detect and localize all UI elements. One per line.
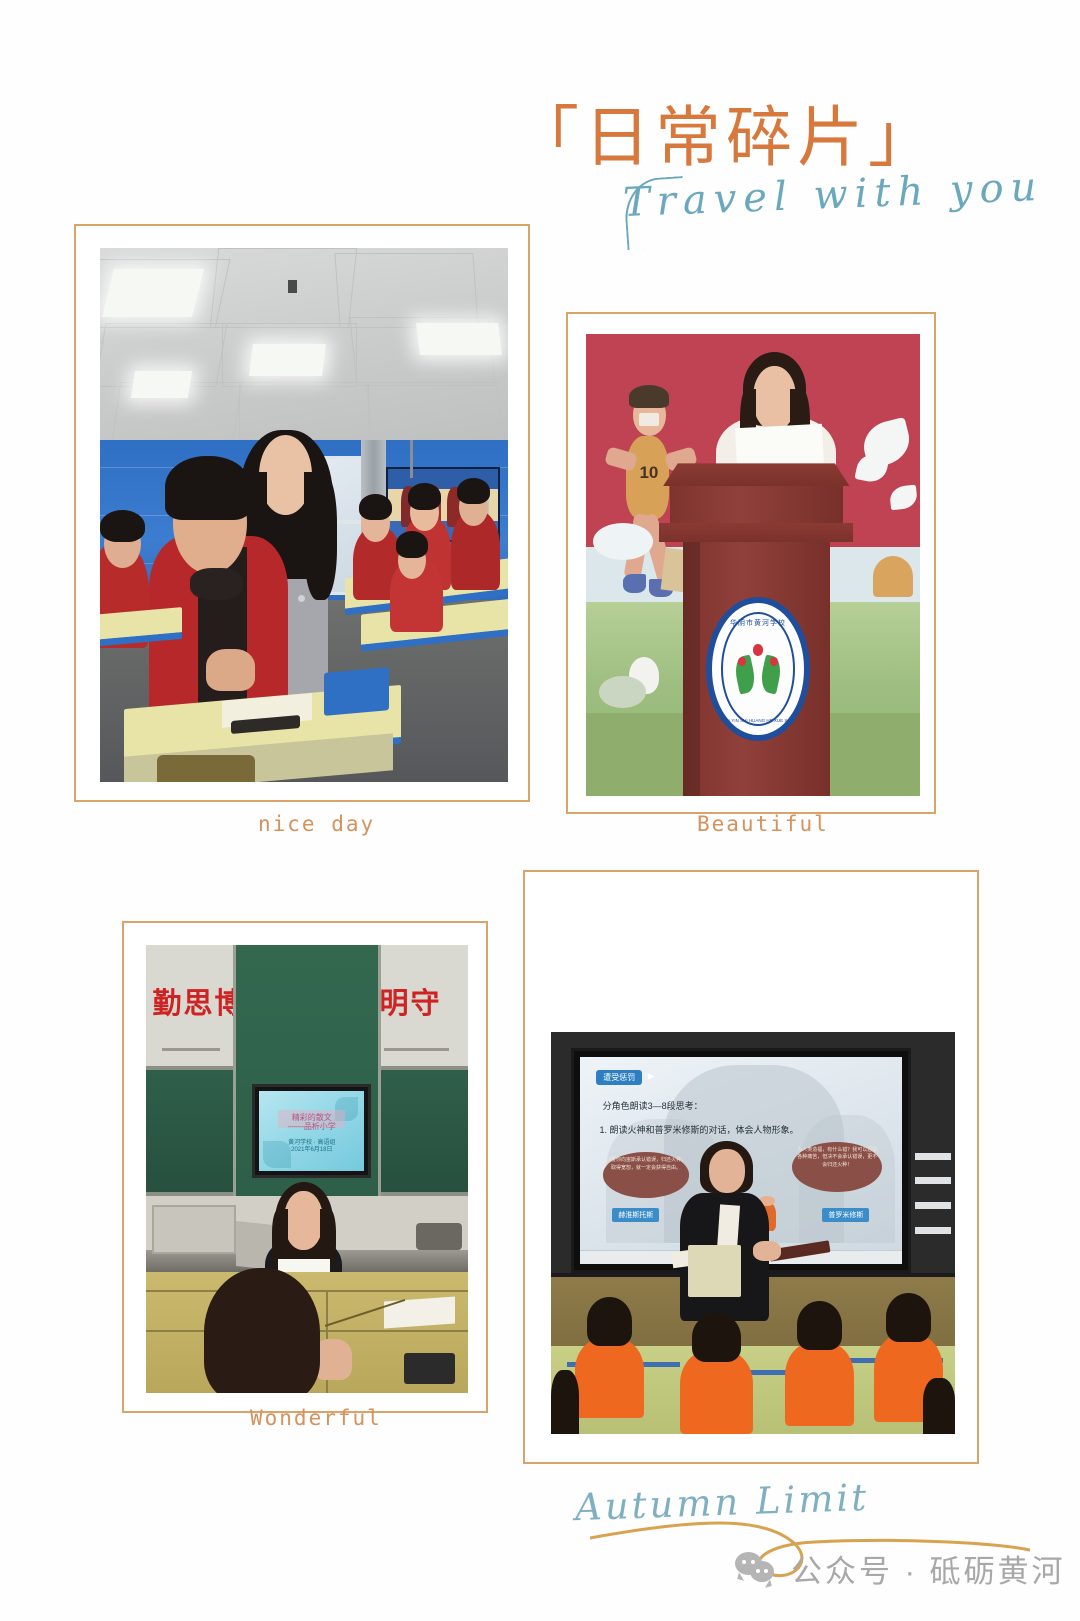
poster-canvas: 「日常碎片」 Travel with you [0, 0, 1080, 1621]
slide-tag: 遭受惩罚 [596, 1070, 642, 1085]
mural-number: 10 [639, 463, 658, 483]
photo-frame-lesson: 遭受惩罚 ▶ 分角色朗读3—8段思考： 1. 朗读火神和普罗米修斯的对话，体会人… [523, 870, 979, 1464]
slide-line-1: 分角色朗读3—8段思考： [603, 1099, 703, 1112]
poster-header: 「日常碎片」 Travel with you [505, 62, 1045, 227]
emblem-text-pinyin: HUA YIN SHI HUANG HE XUE XIAO [712, 718, 804, 723]
slide-subtitle: ——品析小学 [259, 1121, 364, 1132]
photo-caption-nice-day: nice day [258, 812, 375, 836]
watermark-text: 公众号 · 砥砺黄河 [791, 1546, 1066, 1591]
slide-name-left: 赫淮斯托斯 [612, 1208, 659, 1222]
slide-meta-2: 2021年6月18日 [259, 1144, 364, 1153]
photo-caption-wonderful: Wonderful [250, 1406, 382, 1430]
photo-frame-beautiful: 10 [566, 312, 936, 814]
slide-bubble-left: 只要你向宙斯承认错误，归还火种，取得宽恕，就一定会获得自由。 [603, 1152, 690, 1198]
page-title: 「日常碎片」 [513, 84, 939, 180]
photo-frame-nice-day [74, 224, 530, 802]
photo-caption-beautiful: Beautiful [697, 812, 829, 836]
photo-lesson-prometheus: 遭受惩罚 ▶ 分角色朗读3—8段思考： 1. 朗读火神和普罗米修斯的对话，体会人… [551, 1032, 955, 1434]
photo-frame-wonderful: 勤思博学 ★ ★ ★ ★ ★ 文明守 [122, 921, 488, 1413]
slide-name-right: 普罗米修斯 [822, 1208, 869, 1222]
photo-podium-speech: 10 [586, 334, 920, 796]
photo-classroom-banner: 勤思博学 ★ ★ ★ ★ ★ 文明守 [146, 945, 468, 1393]
wechat-icon [735, 1550, 779, 1588]
watermark: 公众号 · 砥砺黄河 [735, 1546, 1066, 1591]
emblem-text-cn: 华阴市黄河学校 [712, 618, 804, 628]
slide-line-2: 1. 朗读火神和普罗米修斯的对话，体会人物形象。 [599, 1123, 798, 1136]
slide-bubble-right: 为人类造福，有什么错？我可以忍受各种痛苦，但决不会承认错误，更不会归还火种！ [792, 1142, 882, 1192]
photo-classroom-teaching [100, 248, 508, 782]
footer-script-text: Autumn Limit [574, 1476, 869, 1529]
